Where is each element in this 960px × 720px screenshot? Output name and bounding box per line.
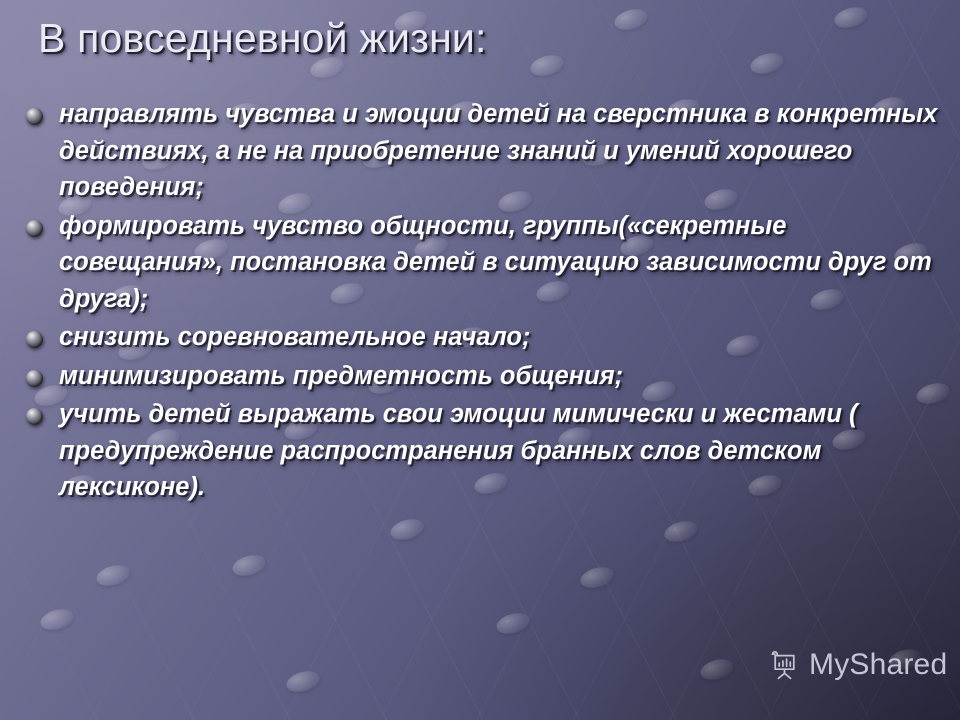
watermark-label: MyShared — [809, 650, 947, 680]
presentation-slide: В повседневной жизни: направлять чувства… — [0, 0, 960, 720]
sphere-bullet-icon — [26, 370, 43, 387]
list-item: минимизировать предметность общения; — [26, 358, 938, 395]
list-item-text: формировать чувство общности, группы(«се… — [59, 208, 938, 318]
slide-title: В повседневной жизни: — [38, 14, 487, 62]
myshared-watermark: MyShared — [766, 648, 947, 682]
flipchart-bar-chart-icon — [766, 648, 800, 682]
sphere-bullet-icon — [26, 220, 43, 237]
bullet-list: направлять чувства и эмоции детей на све… — [26, 96, 938, 508]
list-item-text: снизить соревновательное начало; — [59, 319, 938, 356]
list-item-text: учить детей выражать свои эмоции мимичес… — [59, 396, 938, 506]
sphere-bullet-icon — [26, 108, 43, 125]
sphere-bullet-icon — [26, 408, 43, 425]
list-item: учить детей выражать свои эмоции мимичес… — [26, 396, 938, 506]
list-item: направлять чувства и эмоции детей на све… — [26, 96, 938, 206]
sphere-bullet-icon — [26, 331, 43, 348]
list-item: формировать чувство общности, группы(«се… — [26, 208, 938, 318]
list-item-text: направлять чувства и эмоции детей на све… — [59, 96, 938, 206]
list-item: снизить соревновательное начало; — [26, 319, 938, 356]
list-item-text: минимизировать предметность общения; — [59, 358, 938, 395]
